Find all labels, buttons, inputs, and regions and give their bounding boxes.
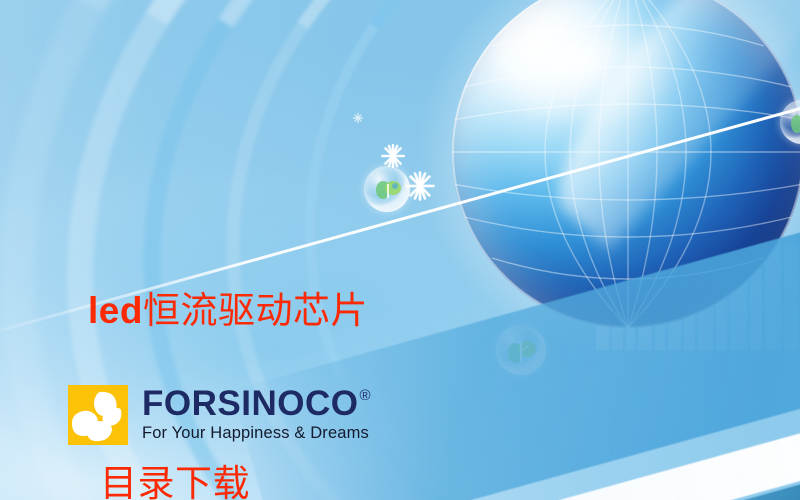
green-leaf-icon [364, 166, 410, 212]
four-petal-pinwheel-icon [68, 385, 128, 445]
title-latin-text: led [88, 290, 143, 331]
logo-wordmark-text: FORSINOCO [142, 387, 358, 421]
title-line-2: 目录下载 [88, 456, 368, 500]
logo-tagline: For Your Happiness & Dreams [142, 424, 371, 442]
page-title: led恒流驱动芯片 目录下载 [88, 166, 368, 500]
brand-logo: FORSINOCO ® For Your Happiness & Dreams [68, 385, 371, 445]
title-line-1: led恒流驱动芯片 [88, 282, 368, 340]
soap-bubble-icon [364, 166, 410, 212]
logo-text-block: FORSINOCO ® For Your Happiness & Dreams [142, 387, 371, 442]
soap-bubble-icon [780, 100, 800, 144]
logo-wordmark: FORSINOCO ® [142, 387, 371, 421]
title-cjk-text: 恒流驱动芯片 [143, 290, 368, 331]
banner-image: led恒流驱动芯片 目录下载 FORSINOCO ® For Your Happ… [0, 0, 800, 500]
registered-trademark-symbol: ® [359, 388, 371, 403]
asterisk-sparkle-icon [352, 112, 364, 124]
pinwheel-petals [68, 385, 128, 445]
green-leaf-icon [780, 100, 800, 144]
